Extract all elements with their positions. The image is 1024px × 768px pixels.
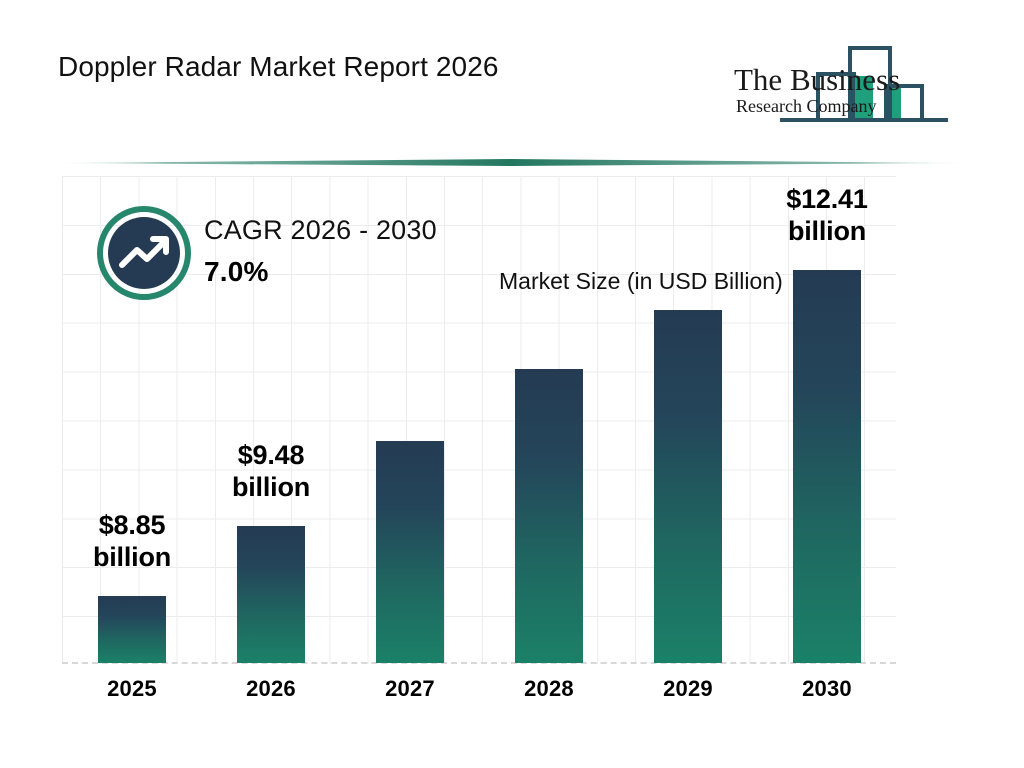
bar-2026 bbox=[237, 526, 305, 663]
header-divider bbox=[55, 155, 967, 165]
bar-2027 bbox=[376, 441, 444, 663]
chart-page: Doppler Radar Market Report 2026 The Bus… bbox=[0, 0, 1024, 768]
cagr-badge bbox=[97, 206, 191, 300]
chart-baseline bbox=[62, 662, 896, 664]
cagr-value: 7.0% bbox=[204, 256, 437, 288]
company-logo: The Business Research Company bbox=[722, 36, 970, 128]
bar-2030 bbox=[793, 270, 861, 663]
bar-2028 bbox=[515, 369, 583, 663]
value-label-unit: billion bbox=[57, 542, 207, 574]
value-label-unit: billion bbox=[752, 216, 902, 248]
bar-2025 bbox=[98, 596, 166, 663]
value-label-2030: $12.41billion bbox=[752, 184, 902, 248]
value-label-unit: billion bbox=[196, 472, 346, 504]
page-title: Doppler Radar Market Report 2026 bbox=[58, 51, 499, 83]
x-axis-label-2029: 2029 bbox=[613, 676, 763, 702]
x-axis-label-2027: 2027 bbox=[335, 676, 485, 702]
value-label-2025: $8.85billion bbox=[57, 510, 207, 574]
logo-line2: Research Company bbox=[736, 96, 876, 116]
bar-2029 bbox=[654, 310, 722, 663]
x-axis-label-2026: 2026 bbox=[196, 676, 346, 702]
value-label-amount: $12.41 bbox=[752, 184, 902, 216]
x-axis-label-2028: 2028 bbox=[474, 676, 624, 702]
value-label-amount: $8.85 bbox=[57, 510, 207, 542]
value-label-2026: $9.48billion bbox=[196, 440, 346, 504]
cagr-text-block: CAGR 2026 - 2030 7.0% bbox=[204, 215, 437, 288]
cagr-period-label: CAGR 2026 - 2030 bbox=[204, 215, 437, 246]
x-axis-label-2025: 2025 bbox=[57, 676, 207, 702]
value-label-amount: $9.48 bbox=[196, 440, 346, 472]
x-axis-label-2030: 2030 bbox=[752, 676, 902, 702]
logo-line1: The Business bbox=[734, 62, 900, 97]
y-axis-title-text: Market Size (in USD Billion) bbox=[499, 268, 899, 295]
